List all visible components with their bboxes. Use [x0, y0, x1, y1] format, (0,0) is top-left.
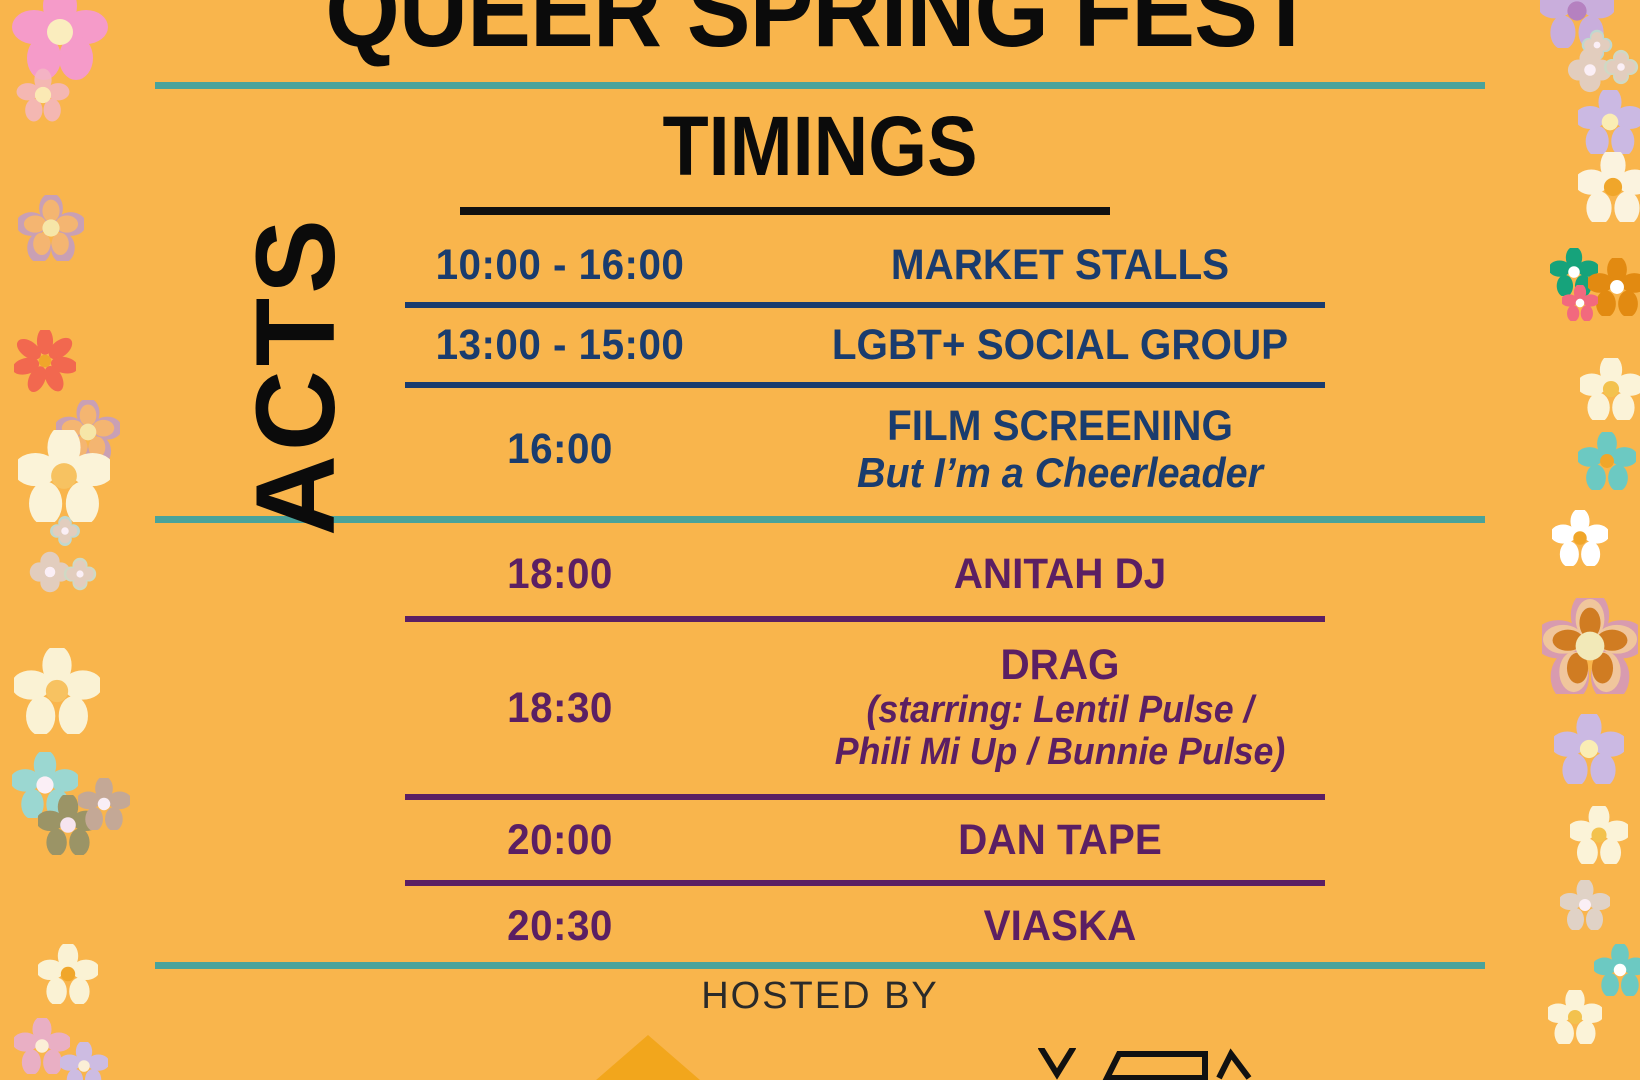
acts-schedule: 18:00 ANITAH DJ 18:30 DRAG (starring: Le…: [395, 532, 1395, 966]
flower-tiny-cluster-right-4-icon: [1602, 48, 1640, 86]
row-event: MARKET STALLS: [745, 242, 1375, 288]
title-underline: [460, 207, 1110, 215]
flower-tiny-cluster-left-8-icon: [62, 556, 98, 592]
flower-cream-right-10-icon: [1580, 358, 1640, 420]
daytime-schedule: 10:00 - 16:00 MARKET STALLS 13:00 - 15:0…: [395, 228, 1395, 510]
flower-lilac-right-5-icon: [1578, 90, 1640, 154]
row-event: FILM SCREENING But I’m a Cheerleader: [745, 403, 1375, 495]
table-row: 18:30 DRAG (starring: Lentil Pulse / Phi…: [395, 622, 1395, 794]
row-event-subtitle: But I’m a Cheerleader: [745, 450, 1375, 495]
row-event: VIASKA: [745, 903, 1375, 949]
poster-canvas: QUEER SPRING FEST TIMINGS 10:00 - 16:00 …: [0, 0, 1640, 1080]
flower-beige-right-16-icon: [1560, 880, 1610, 930]
row-time: 18:30: [405, 684, 715, 733]
row-time: 16:00: [405, 425, 715, 474]
table-row: 16:00 FILM SCREENING But I’m a Cheerlead…: [395, 388, 1395, 510]
row-event-title: FILM SCREENING: [887, 402, 1233, 450]
row-event-title: DRAG: [1000, 641, 1119, 689]
flower-retro-right-13-icon: [1542, 598, 1638, 694]
flower-peach-left-2-icon: [16, 68, 70, 122]
table-row: 20:30 VIASKA: [395, 886, 1395, 966]
row-event-subtitle-line2: Phili Mi Up / Bunnie Pulse): [745, 731, 1375, 774]
flower-white-right-12-icon: [1552, 510, 1608, 566]
flower-cream-right-18-icon: [1548, 990, 1602, 1044]
flower-teal-right-11-icon: [1578, 432, 1636, 490]
flower-cream-left-16-icon: [38, 944, 98, 1004]
row-time: 13:00 - 15:00: [405, 321, 715, 370]
flower-teal-right-17-icon: [1594, 944, 1640, 996]
hosted-by-label: HOSTED BY: [155, 975, 1485, 1018]
row-time: 18:00: [405, 550, 715, 599]
table-row: 20:00 DAN TAPE: [395, 800, 1395, 880]
flower-coral-left-4-icon: [14, 330, 76, 392]
flower-cream-left-9-icon: [14, 648, 100, 734]
row-event: DAN TAPE: [745, 817, 1375, 863]
host-logo-mark-icon: [1035, 1048, 1275, 1080]
section-title-timings: TIMINGS: [222, 98, 1419, 195]
poster-content: QUEER SPRING FEST TIMINGS 10:00 - 16:00 …: [155, 0, 1485, 1080]
table-row: 13:00 - 15:00 LGBT+ SOCIAL GROUP: [395, 308, 1395, 382]
row-time: 20:00: [405, 816, 715, 865]
flower-lilac-right-14-icon: [1554, 714, 1624, 784]
host-logo-chevron-icon: [558, 1035, 738, 1080]
flower-pink-right-9-icon: [1562, 285, 1598, 321]
row-event: DRAG (starring: Lentil Pulse / Phili Mi …: [745, 642, 1375, 774]
row-time: 10:00 - 16:00: [405, 241, 715, 290]
rule-teal-bottom: [155, 962, 1485, 969]
row-time: 20:30: [405, 902, 715, 951]
flower-peach-left-3-icon: [18, 195, 84, 261]
flower-beige-left-15-icon: [78, 778, 130, 830]
row-event: ANITAH DJ: [745, 551, 1375, 597]
table-row: 10:00 - 16:00 MARKET STALLS: [395, 228, 1395, 302]
flower-cream-big-daisy-icon: [18, 430, 110, 522]
acts-vertical-label: ACTS: [240, 116, 360, 536]
flower-cream-right-15-icon: [1570, 806, 1628, 864]
flower-lilac-left-18-icon: [60, 1042, 108, 1080]
page-title: QUEER SPRING FEST: [208, 0, 1432, 71]
flower-cream-right-6-icon: [1578, 152, 1640, 222]
row-event-subtitle-line1: (starring: Lentil Pulse /: [745, 689, 1375, 732]
row-event: LGBT+ SOCIAL GROUP: [745, 322, 1375, 368]
table-row: 18:00 ANITAH DJ: [395, 532, 1395, 616]
rule-teal-top: [155, 82, 1485, 89]
flower-cream-left-12-icon: [26, 590, 27, 591]
